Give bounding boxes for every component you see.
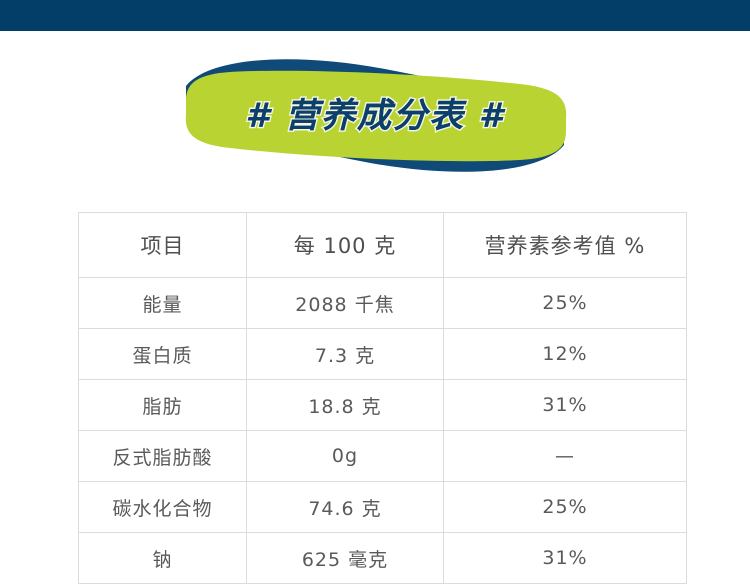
cell-item: 钠: [79, 533, 247, 584]
column-header-nrv: 营养素参考值 %: [444, 213, 687, 278]
cell-nrv: 31%: [444, 533, 687, 584]
table-row: 反式脂肪酸 0g —: [79, 431, 687, 482]
top-navy-bar: [0, 0, 750, 31]
table-body: 能量 2088 千焦 25% 蛋白质 7.3 克 12% 脂肪 18.8 克 3…: [79, 278, 687, 584]
cell-item: 能量: [79, 278, 247, 329]
banner-graphic: [0, 48, 750, 183]
cell-per100g: 0g: [247, 431, 444, 482]
cell-item: 碳水化合物: [79, 482, 247, 533]
table-row: 脂肪 18.8 克 31%: [79, 380, 687, 431]
table-header-row: 项目 每 100 克 营养素参考值 %: [79, 213, 687, 278]
cell-item: 脂肪: [79, 380, 247, 431]
banner-green-shape: [186, 71, 566, 162]
nutrition-facts-table: 项目 每 100 克 营养素参考值 % 能量 2088 千焦 25% 蛋白质 7…: [78, 212, 687, 584]
cell-nrv: 31%: [444, 380, 687, 431]
cell-item: 反式脂肪酸: [79, 431, 247, 482]
table-row: 碳水化合物 74.6 克 25%: [79, 482, 687, 533]
cell-nrv: 25%: [444, 482, 687, 533]
cell-per100g: 625 毫克: [247, 533, 444, 584]
cell-nrv: —: [444, 431, 687, 482]
table-row: 能量 2088 千焦 25%: [79, 278, 687, 329]
column-header-per100g: 每 100 克: [247, 213, 444, 278]
table-row: 钠 625 毫克 31%: [79, 533, 687, 584]
cell-per100g: 7.3 克: [247, 329, 444, 380]
cell-item: 蛋白质: [79, 329, 247, 380]
cell-per100g: 2088 千焦: [247, 278, 444, 329]
cell-nrv: 12%: [444, 329, 687, 380]
column-header-item: 项目: [79, 213, 247, 278]
cell-nrv: 25%: [444, 278, 687, 329]
cell-per100g: 18.8 克: [247, 380, 444, 431]
table-header: 项目 每 100 克 营养素参考值 %: [79, 213, 687, 278]
table-row: 蛋白质 7.3 克 12%: [79, 329, 687, 380]
cell-per100g: 74.6 克: [247, 482, 444, 533]
